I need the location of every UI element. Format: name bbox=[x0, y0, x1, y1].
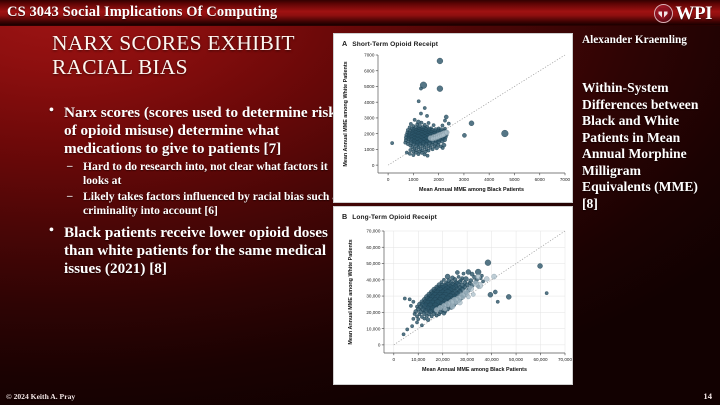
svg-text:5000: 5000 bbox=[364, 84, 375, 89]
svg-text:0: 0 bbox=[393, 357, 396, 362]
svg-text:2000: 2000 bbox=[434, 177, 445, 182]
svg-text:70,000: 70,000 bbox=[366, 229, 380, 234]
svg-text:7000: 7000 bbox=[560, 177, 571, 182]
svg-text:60,000: 60,000 bbox=[534, 357, 548, 362]
svg-text:40,000: 40,000 bbox=[366, 277, 380, 282]
svg-text:Mean Annual MME among Black Pa: Mean Annual MME among Black Patients bbox=[419, 187, 524, 193]
svg-text:10,000: 10,000 bbox=[366, 326, 380, 331]
chart-a-plot: 0100020003000400050006000700001000200030… bbox=[334, 34, 573, 202]
svg-text:Mean Annual MME among Black Pa: Mean Annual MME among Black Patients bbox=[422, 367, 527, 373]
svg-text:60,000: 60,000 bbox=[366, 245, 380, 250]
footer-page-number: 14 bbox=[703, 391, 712, 401]
svg-text:4000: 4000 bbox=[484, 177, 495, 182]
svg-text:1000: 1000 bbox=[408, 177, 419, 182]
chart-panel-b: B Long-Term Opioid Receipt 010,00020,000… bbox=[333, 206, 573, 385]
wpi-wordmark: WPI bbox=[676, 4, 713, 23]
svg-text:70,000: 70,000 bbox=[558, 357, 572, 362]
svg-text:5000: 5000 bbox=[509, 177, 520, 182]
bullet-level2: Likely takes factors influenced by racia… bbox=[47, 190, 343, 217]
svg-text:0: 0 bbox=[387, 177, 390, 182]
svg-text:3000: 3000 bbox=[459, 177, 470, 182]
svg-text:2000: 2000 bbox=[364, 131, 375, 136]
bullet-level2: Hard to do research into, not clear what… bbox=[47, 160, 343, 187]
svg-text:1000: 1000 bbox=[364, 147, 375, 152]
svg-text:50,000: 50,000 bbox=[509, 357, 523, 362]
svg-text:6000: 6000 bbox=[535, 177, 546, 182]
figure-caption: Within-System Differences between Black … bbox=[582, 80, 702, 213]
chart-b-plot: 010,00020,00030,00040,00050,00060,00070,… bbox=[334, 207, 573, 384]
svg-text:0: 0 bbox=[372, 163, 375, 168]
svg-text:30,000: 30,000 bbox=[366, 294, 380, 299]
bullet-level1: Narx scores (scores used to determine ri… bbox=[47, 104, 343, 157]
wpi-logo: WPI bbox=[654, 1, 713, 25]
presentation-slide: CS 3043 Social Implications Of Computing… bbox=[0, 0, 720, 405]
course-title: CS 3043 Social Implications Of Computing bbox=[7, 4, 277, 21]
svg-text:Mean Annual MME among White Pa: Mean Annual MME among White Patients bbox=[343, 61, 349, 166]
scatter-plot-a: 0100020003000400050006000700001000200030… bbox=[334, 34, 573, 203]
bullet-level1: Black patients receive lower opioid dose… bbox=[47, 224, 343, 277]
svg-text:30,000: 30,000 bbox=[460, 357, 474, 362]
svg-text:20,000: 20,000 bbox=[366, 310, 380, 315]
footer-copyright: © 2024 Keith A. Pray bbox=[6, 392, 75, 401]
svg-text:4000: 4000 bbox=[364, 100, 375, 105]
author-name: Alexander Kraemling bbox=[582, 34, 716, 48]
chart-panel-a: A Short-Term Opioid Receipt 010002000300… bbox=[333, 33, 573, 203]
svg-text:7000: 7000 bbox=[364, 53, 375, 58]
slide-header-bar: CS 3043 Social Implications Of Computing… bbox=[0, 0, 720, 26]
scatter-plot-b: 010,00020,00030,00040,00050,00060,00070,… bbox=[334, 207, 573, 385]
page-title: NARX SCORES EXHIBIT RACIAL BIAS bbox=[52, 31, 342, 79]
svg-text:6000: 6000 bbox=[364, 68, 375, 73]
svg-text:10,000: 10,000 bbox=[411, 357, 425, 362]
svg-text:3000: 3000 bbox=[364, 116, 375, 121]
bullet-list: Narx scores (scores used to determine ri… bbox=[47, 104, 343, 279]
svg-text:50,000: 50,000 bbox=[366, 261, 380, 266]
wpi-seal-icon bbox=[654, 4, 673, 23]
svg-text:40,000: 40,000 bbox=[485, 357, 499, 362]
bullet-spacer bbox=[47, 217, 343, 224]
svg-text:0: 0 bbox=[378, 343, 381, 348]
svg-text:Mean Annual MME among White Pa: Mean Annual MME among White Patients bbox=[348, 239, 354, 344]
svg-text:20,000: 20,000 bbox=[436, 357, 450, 362]
